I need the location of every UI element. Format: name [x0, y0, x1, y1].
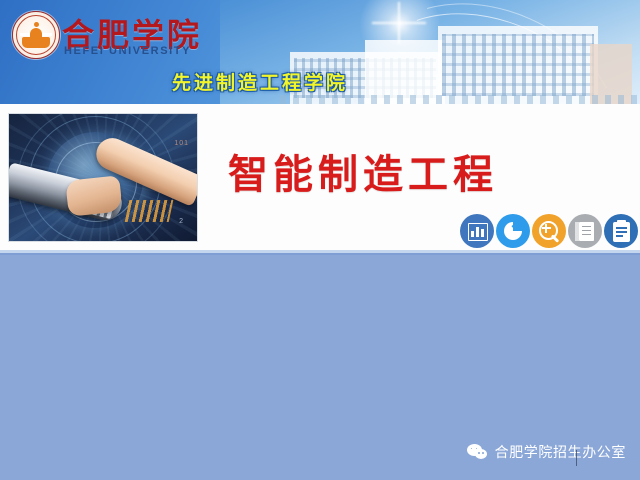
page-title: 智能制造工程	[228, 142, 498, 200]
university-seal-icon	[12, 11, 60, 59]
college-title: 先进制造工程学院	[172, 68, 348, 95]
tree-line	[280, 95, 640, 104]
icon-strip	[460, 212, 634, 250]
notebook-icon[interactable]	[568, 214, 602, 248]
hud-number-label: 101	[174, 140, 189, 147]
hud-bars-decoration	[125, 200, 174, 222]
slide-header-banner: 合肥学院 HEFEI UNIVERSITY 先进制造工程学院	[0, 0, 640, 104]
robot-handshake-photo: 101 2	[8, 113, 198, 242]
hud-number-label: 2	[179, 218, 183, 225]
magnifier-icon[interactable]	[532, 214, 566, 248]
pie-chart-icon[interactable]	[496, 214, 530, 248]
wechat-account-row: 合肥学院招生办公室	[467, 442, 626, 462]
bar-chart-icon[interactable]	[460, 214, 494, 248]
wechat-logo-icon	[467, 444, 488, 460]
text-caret	[576, 450, 577, 466]
wechat-account-name: 合肥学院招生办公室	[495, 442, 626, 462]
clipboard-icon[interactable]	[604, 214, 638, 248]
university-name-en: HEFEI UNIVERSITY	[64, 45, 191, 57]
presentation-slide: 合肥学院 HEFEI UNIVERSITY 先进制造工程学院 101 2 智能制…	[0, 0, 640, 480]
building-windows	[442, 34, 594, 96]
